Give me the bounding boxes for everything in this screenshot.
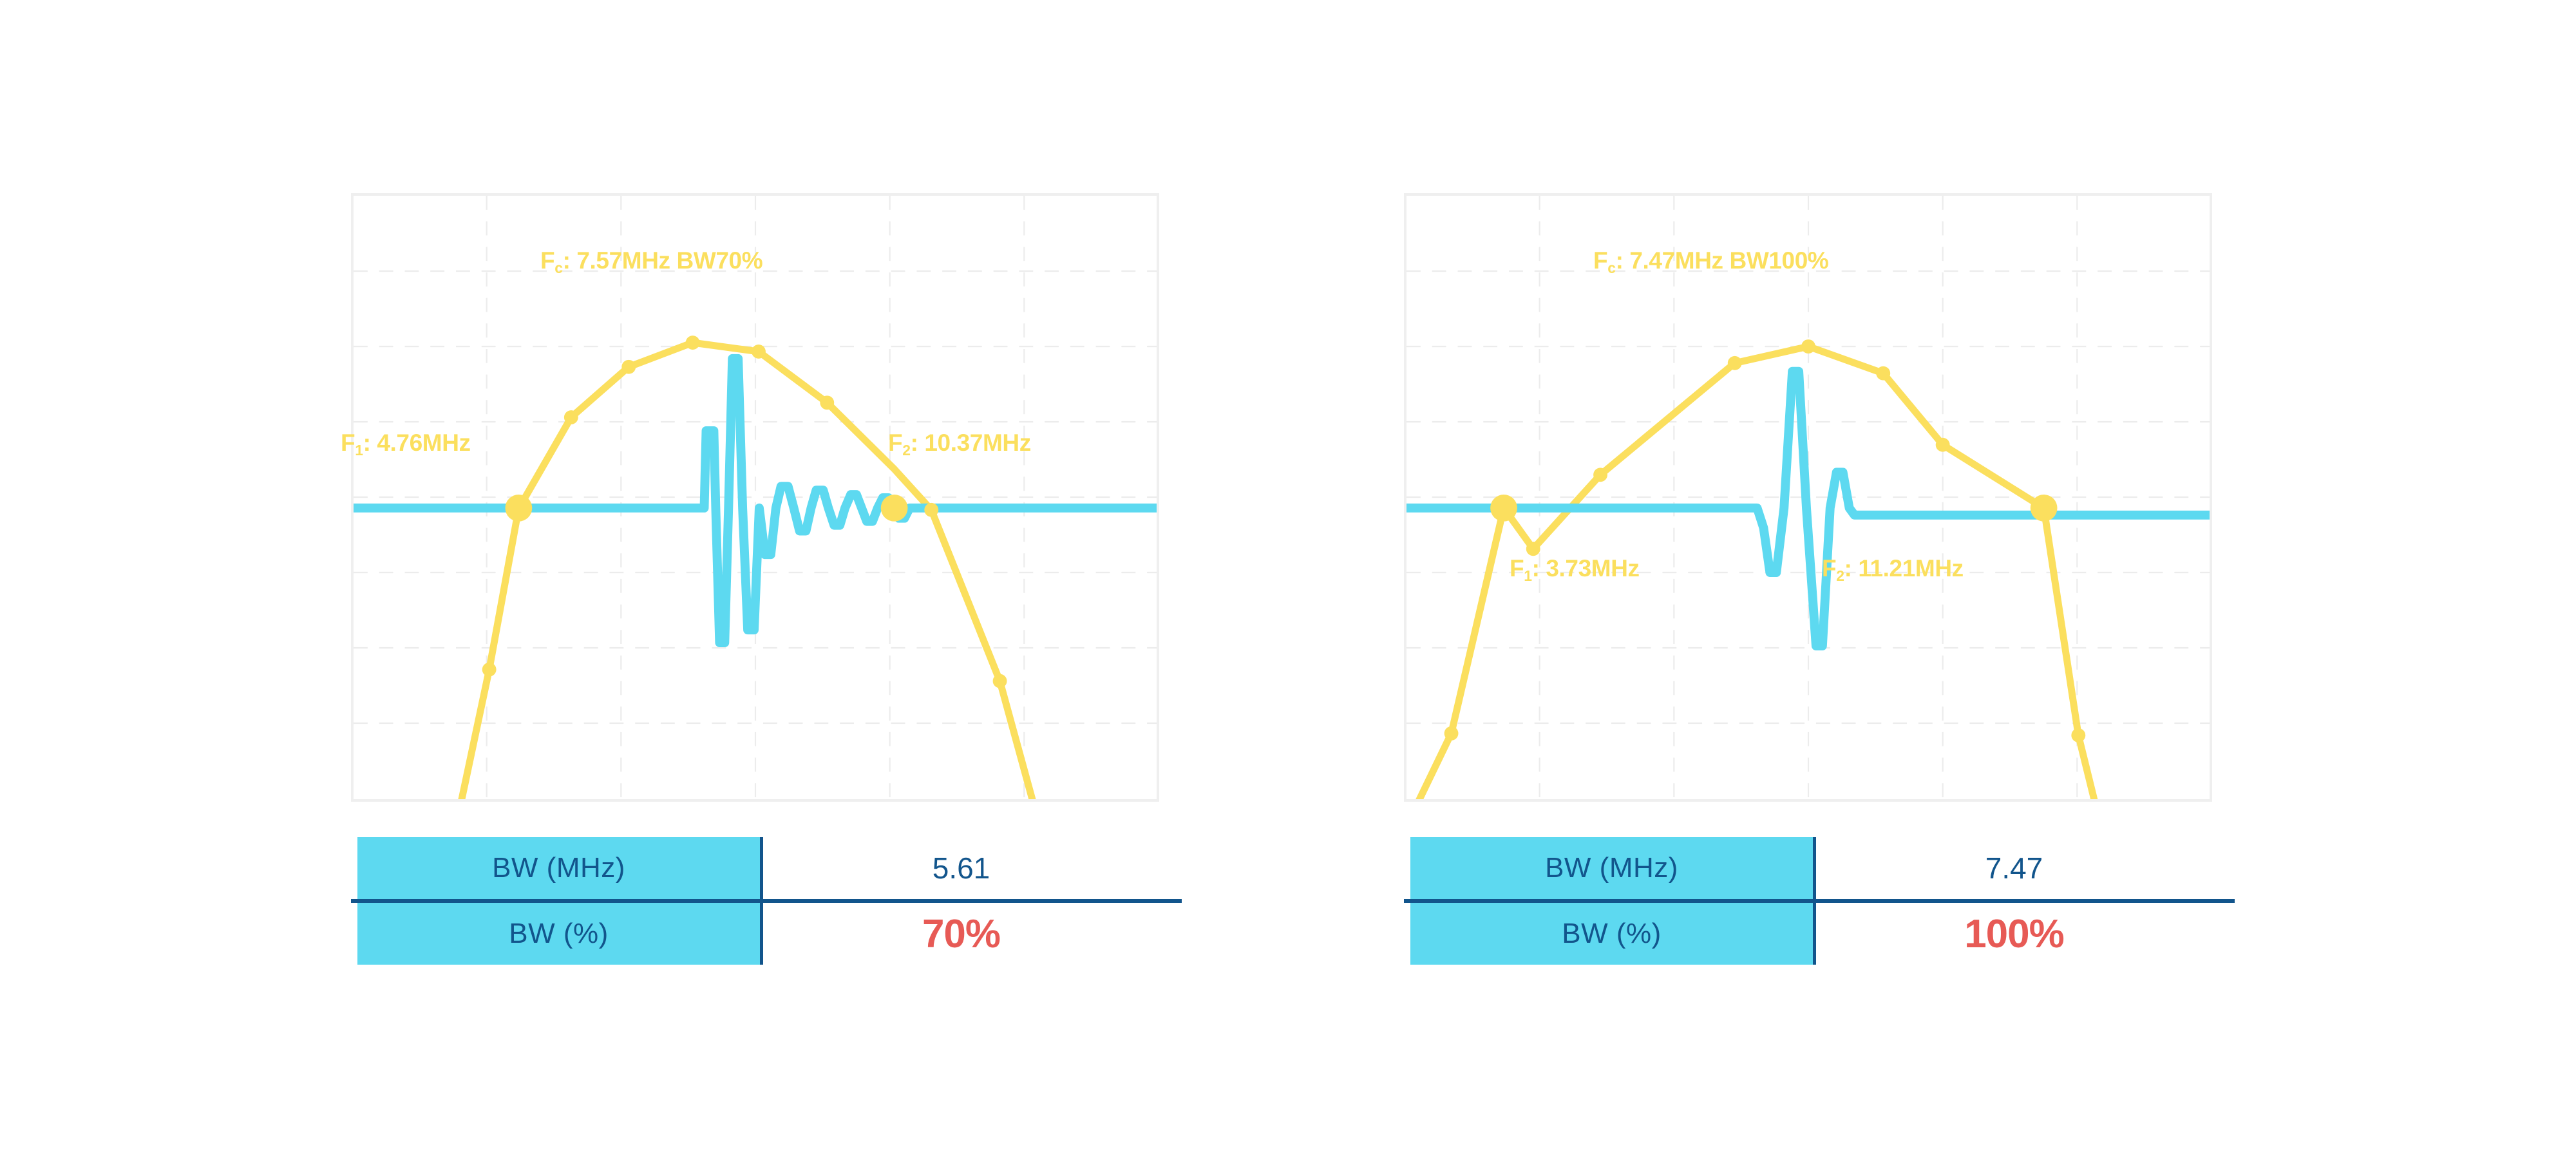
panel-bw100: Fc: 7.47MHz BW100% F1: 3.73MHz F2: 11.21… — [1404, 193, 2212, 802]
row-value-bw-pct: 100% — [1815, 901, 2213, 965]
row-header-bw-pct: BW (%) — [1410, 901, 1815, 965]
row-value-bw-mhz: 7.47 — [1815, 837, 2213, 901]
table-row-bandwidth-mhz: BW (MHz) 7.47 — [1410, 837, 2212, 901]
label-fc-symbol: F — [1593, 247, 1607, 274]
label-f2-subscript: 2 — [1836, 567, 1844, 584]
marker-f2 — [881, 495, 908, 522]
label-f1: F1: 4.76MHz — [341, 431, 471, 455]
label-fc-text: : 7.47MHz BW100% — [1616, 247, 1829, 274]
table-row-bandwidth-mhz: BW (MHz) 5.61 — [357, 837, 1159, 901]
label-fc-subscript: c — [1607, 260, 1615, 276]
label-f1-symbol: F — [341, 430, 355, 456]
table-rule-extension-right — [1404, 899, 2235, 903]
row-value-bw-mhz: 5.61 — [762, 837, 1160, 901]
table-row-bandwidth-pct: BW (%) 100% — [1410, 901, 2212, 965]
label-fc-subscript: c — [554, 260, 562, 276]
label-f2: F2: 10.37MHz — [888, 431, 1031, 455]
row-header-bw-pct: BW (%) — [357, 901, 762, 965]
chart-plot-bw70 — [354, 196, 1157, 799]
label-f2-subscript: 2 — [902, 442, 910, 459]
chart-frame-bw70: Fc: 7.57MHz BW70% F1: 4.76MHz F2: 10.37M… — [351, 193, 1159, 802]
table-rule-extension-left — [351, 899, 1182, 903]
marker-f2 — [2031, 495, 2058, 522]
label-f1-text: : 3.73MHz — [1532, 555, 1640, 582]
label-f1-subscript: 1 — [355, 442, 363, 459]
marker-f1 — [505, 495, 532, 522]
table-row-bandwidth-pct: BW (%) 70% — [357, 901, 1159, 965]
label-fc-symbol: F — [540, 247, 554, 274]
label-f1-symbol: F — [1510, 555, 1524, 582]
row-header-bw-mhz: BW (MHz) — [1410, 837, 1815, 901]
grid-lines — [354, 196, 1157, 799]
label-f1-subscript: 1 — [1524, 567, 1531, 584]
label-f2-text: : 10.37MHz — [911, 430, 1031, 456]
chart-frame-bw100: Fc: 7.47MHz BW100% F1: 3.73MHz F2: 11.21… — [1404, 193, 2212, 802]
figure-canvas: Fc: 7.57MHz BW70% F1: 4.76MHz F2: 10.37M… — [0, 0, 2576, 1154]
label-f1-text: : 4.76MHz — [363, 430, 471, 456]
row-header-bw-mhz: BW (MHz) — [357, 837, 762, 901]
label-f2-symbol: F — [888, 430, 902, 456]
chart-plot-bw100 — [1406, 196, 2210, 799]
label-f2: F2: 11.21MHz — [1822, 556, 1964, 580]
label-fc: Fc: 7.57MHz BW70% — [540, 249, 762, 272]
marker-f1 — [1490, 495, 1517, 522]
label-fc: Fc: 7.47MHz BW100% — [1593, 249, 1828, 272]
label-f2-symbol: F — [1822, 555, 1836, 582]
label-f2-text: : 11.21MHz — [1844, 555, 1964, 582]
panel-bw70: Fc: 7.57MHz BW70% F1: 4.76MHz F2: 10.37M… — [351, 193, 1159, 802]
label-fc-text: : 7.57MHz BW70% — [563, 247, 763, 274]
label-f1: F1: 3.73MHz — [1510, 556, 1640, 580]
row-value-bw-pct: 70% — [762, 901, 1160, 965]
